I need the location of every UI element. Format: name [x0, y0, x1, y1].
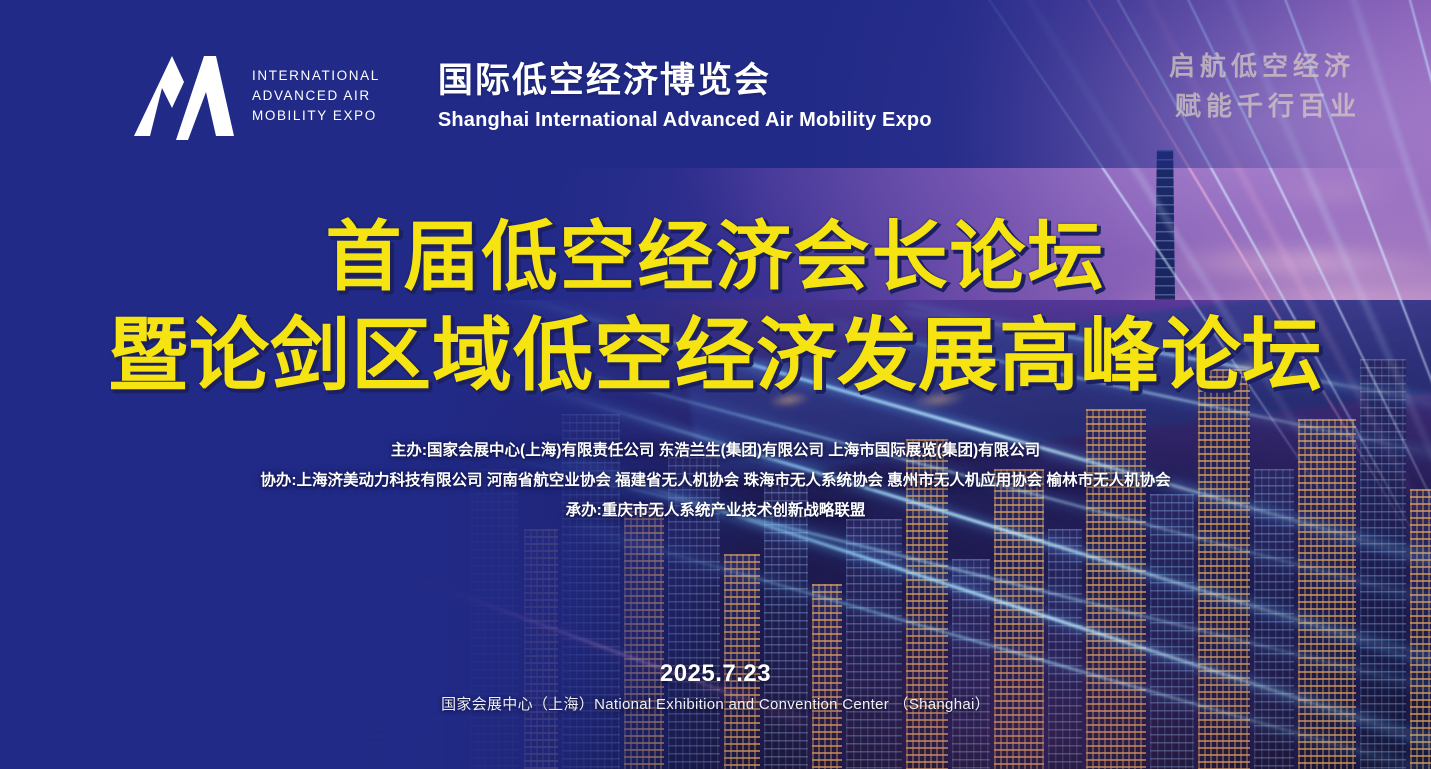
forum-title-line-2: 暨论剑区域低空经济发展高峰论坛	[0, 308, 1431, 404]
logo-word-line: INTERNATIONAL	[252, 66, 380, 86]
slogan: 启航低空经济 赋能千行百业	[1169, 46, 1355, 126]
expo-name-cn: 国际低空经济博览会	[438, 58, 932, 104]
logo-word-line: MOBILITY EXPO	[252, 106, 380, 126]
logo-word-line: ADVANCED AIR	[252, 86, 380, 106]
poster-header: INTERNATIONAL ADVANCED AIR MOBILITY EXPO…	[132, 52, 932, 140]
event-venue: 国家会展中心（上海）National Exhibition and Conven…	[0, 692, 1431, 718]
logo-wordmark: INTERNATIONAL ADVANCED AIR MOBILITY EXPO	[252, 66, 380, 126]
slogan-line-1: 启航低空经济	[1169, 46, 1355, 86]
forum-title-block: 首届低空经济会长论坛 暨论剑区域低空经济发展高峰论坛	[0, 212, 1431, 404]
sponsor-block: 主办:国家会展中心(上海)有限责任公司 东浩兰生(集团)有限公司 上海市国际展览…	[0, 436, 1431, 526]
expo-name-en: Shanghai International Advanced Air Mobi…	[438, 106, 932, 134]
mountain-m-logo-icon	[132, 52, 236, 140]
expo-brand: 国际低空经济博览会 Shanghai International Advance…	[438, 58, 932, 134]
event-date: 2025.7.23	[0, 658, 1431, 690]
host-line: 承办:重庆市无人系统产业技术创新战略联盟	[0, 496, 1431, 526]
event-footer: 2025.7.23 国家会展中心（上海）National Exhibition …	[0, 658, 1431, 718]
organizer-line: 主办:国家会展中心(上海)有限责任公司 东浩兰生(集团)有限公司 上海市国际展览…	[0, 436, 1431, 466]
forum-title-line-1: 首届低空经济会长论坛	[0, 212, 1431, 304]
co-organizer-line: 协办:上海济美动力科技有限公司 河南省航空业协会 福建省无人机协会 珠海市无人系…	[0, 466, 1431, 496]
slogan-line-2: 赋能千行百业	[1169, 86, 1361, 126]
event-poster: INTERNATIONAL ADVANCED AIR MOBILITY EXPO…	[0, 0, 1431, 769]
